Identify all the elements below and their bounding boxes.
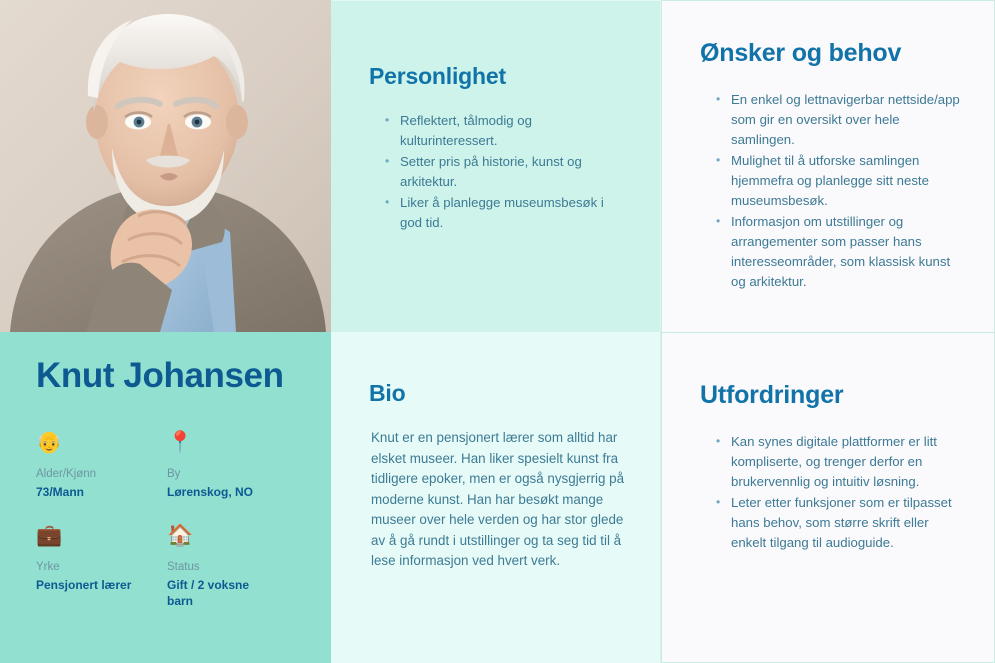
panel-utfordringer-list: Kan synes digitale plattformer er litt k… bbox=[700, 432, 960, 553]
persona-identity: Knut Johansen 👴 Alder/Kjønn 73/Mann 📍 By… bbox=[0, 332, 331, 663]
house-icon: 🏠 bbox=[167, 522, 301, 548]
panel-personlighet-title: Personlighet bbox=[369, 63, 626, 89]
stat-label: Status bbox=[167, 560, 301, 575]
panel-personlighet: Personlighet Reflektert, tålmodig og kul… bbox=[331, 0, 661, 332]
list-item: Kan synes digitale plattformer er litt k… bbox=[716, 432, 960, 492]
panel-onsker-title: Ønsker og behov bbox=[700, 39, 960, 68]
persona-card: Personlighet Reflektert, tålmodig og kul… bbox=[0, 0, 995, 663]
stat-value: Gift / 2 voksne barn bbox=[167, 577, 272, 609]
persona-stats: 👴 Alder/Kjønn 73/Mann 📍 By Lørenskog, NO… bbox=[36, 429, 301, 609]
stat-alder-kjonn: 👴 Alder/Kjønn 73/Mann bbox=[36, 429, 167, 500]
portrait-illustration bbox=[0, 0, 331, 332]
older-man-icon: 👴 bbox=[36, 429, 167, 455]
map-pin-icon: 📍 bbox=[167, 429, 301, 455]
stat-status: 🏠 Status Gift / 2 voksne barn bbox=[167, 522, 301, 609]
list-item: Mulighet til å utforske samlingen hjemme… bbox=[716, 151, 960, 211]
panel-bio: Bio Knut er en pensjonert lærer som allt… bbox=[331, 332, 661, 663]
panel-bio-text: Knut er en pensjonert lærer som alltid h… bbox=[369, 428, 626, 572]
persona-photo bbox=[0, 0, 331, 332]
list-item: En enkel og lettnavigerbar nettside/app … bbox=[716, 90, 960, 150]
list-item: Reflektert, tålmodig og kulturinteresser… bbox=[385, 111, 626, 151]
stat-label: Yrke bbox=[36, 560, 167, 575]
stat-label: By bbox=[167, 467, 301, 482]
panel-utfordringer-title: Utfordringer bbox=[700, 381, 960, 410]
stat-by: 📍 By Lørenskog, NO bbox=[167, 429, 301, 500]
stat-label: Alder/Kjønn bbox=[36, 467, 167, 482]
panel-bio-title: Bio bbox=[369, 380, 626, 406]
panel-personlighet-list: Reflektert, tålmodig og kulturinteresser… bbox=[369, 111, 626, 233]
panel-onsker-og-behov: Ønsker og behov En enkel og lettnavigerb… bbox=[661, 0, 995, 332]
stat-value: Lørenskog, NO bbox=[167, 484, 272, 500]
list-item: Liker å planlegge museumsbesøk i god tid… bbox=[385, 193, 626, 233]
stat-yrke: 💼 Yrke Pensjonert lærer bbox=[36, 522, 167, 609]
stat-value: 73/Mann bbox=[36, 484, 141, 500]
panel-utfordringer: Utfordringer Kan synes digitale plattfor… bbox=[661, 332, 995, 663]
list-item: Setter pris på historie, kunst og arkite… bbox=[385, 152, 626, 192]
page-title: Knut Johansen bbox=[36, 358, 301, 395]
list-item: Informasjon om utstillinger og arrangeme… bbox=[716, 212, 960, 292]
list-item: Leter etter funksjoner som er tilpasset … bbox=[716, 493, 960, 553]
briefcase-icon: 💼 bbox=[36, 522, 167, 548]
panel-onsker-list: En enkel og lettnavigerbar nettside/app … bbox=[700, 90, 960, 292]
stat-value: Pensjonert lærer bbox=[36, 577, 141, 593]
